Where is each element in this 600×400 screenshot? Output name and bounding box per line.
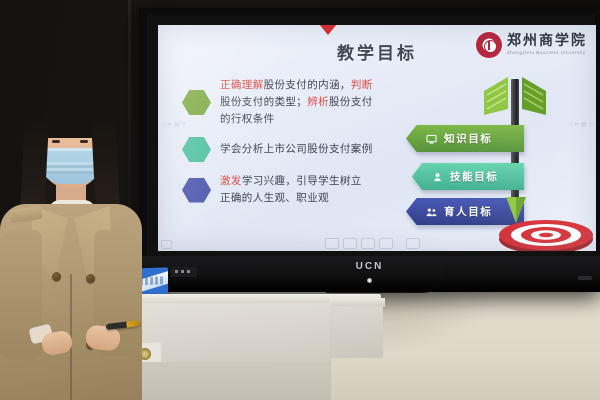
university-crest-icon [476, 32, 502, 58]
wall-power-socket[interactable] [171, 267, 197, 277]
tv-ports [578, 276, 592, 280]
person-idea-icon [432, 172, 443, 182]
tv-bezel: 教学目标 郑州商学院 Zhengzhou Business University… [147, 15, 595, 256]
objective-text-2: 学会分析上市公司股份支付案例 [220, 141, 373, 158]
signpost-label: 技能目标 [450, 169, 498, 184]
hexagon-bullet [182, 178, 211, 203]
logo-name-cn: 郑州商学院 [507, 34, 587, 48]
objectives-list: 正确理解股份支付的内涵，判断股份支付的类型；辨析股份支付的行权条件 学会分析上市… [182, 77, 397, 207]
coat-button [52, 272, 61, 281]
lectern-front [119, 303, 331, 365]
lectern-base [135, 362, 331, 400]
hexagon-bullet [182, 137, 211, 162]
more-options-icon[interactable] [406, 238, 420, 249]
slide-menu-icon[interactable] [161, 240, 172, 249]
objective-text-1: 正确理解股份支付的内涵，判断股份支付的类型；辨析股份支付的行权条件 [220, 77, 373, 128]
lectern-front-right [329, 306, 383, 358]
red-triangle-decor [319, 25, 337, 35]
list-item: 学会分析上市公司股份支付案例 [182, 137, 397, 162]
objective-text-3: 激发学习兴趣，引导学生树立正确的人生观、职业观 [220, 173, 362, 207]
slide-nav-right[interactable]: ◁ ⊳ ▤ ▽ [568, 121, 593, 130]
classroom-scene: 教学目标 郑州商学院 Zhengzhou Business University… [0, 0, 600, 400]
presentation-slide: 教学目标 郑州商学院 Zhengzhou Business University… [158, 25, 596, 251]
people-icon [426, 207, 437, 217]
signpost-graphic: 知识目标 技能目标 [406, 67, 592, 247]
arrow-head-icon [504, 195, 528, 225]
display-tv: 教学目标 郑州商学院 Zhengzhou Business University… [139, 8, 600, 292]
pen-icon[interactable] [325, 238, 339, 249]
pointer-icon[interactable] [379, 238, 393, 249]
presenter [0, 104, 146, 400]
eye-right [80, 140, 88, 143]
list-item: 激发学习兴趣，引导学生树立正确的人生观、职业观 [182, 173, 397, 207]
signpost-knowledge: 知识目标 [406, 125, 524, 152]
logo-name-en: Zhengzhou Business University [507, 51, 587, 56]
logo-text: 郑州商学院 Zhengzhou Business University [507, 34, 587, 55]
signpost-skill: 技能目标 [412, 163, 524, 190]
hexagon-bullet [182, 90, 211, 115]
list-item: 正确理解股份支付的内涵，判断股份支付的类型；辨析股份支付的行权条件 [182, 77, 397, 128]
screen-icon [426, 134, 437, 144]
slide-nav-left[interactable]: ◁ ⊳ ▤ ▽ [161, 121, 186, 130]
eye-left [52, 140, 60, 143]
university-logo: 郑州商学院 Zhengzhou Business University [476, 32, 587, 58]
coat-button [86, 274, 95, 283]
lectern [113, 270, 383, 400]
eraser-icon[interactable] [361, 238, 375, 249]
presentation-toolbar[interactable] [325, 238, 420, 249]
signpost-label: 育人目标 [444, 204, 492, 219]
signpost-label: 知识目标 [444, 131, 492, 146]
highlighter-icon[interactable] [343, 238, 357, 249]
